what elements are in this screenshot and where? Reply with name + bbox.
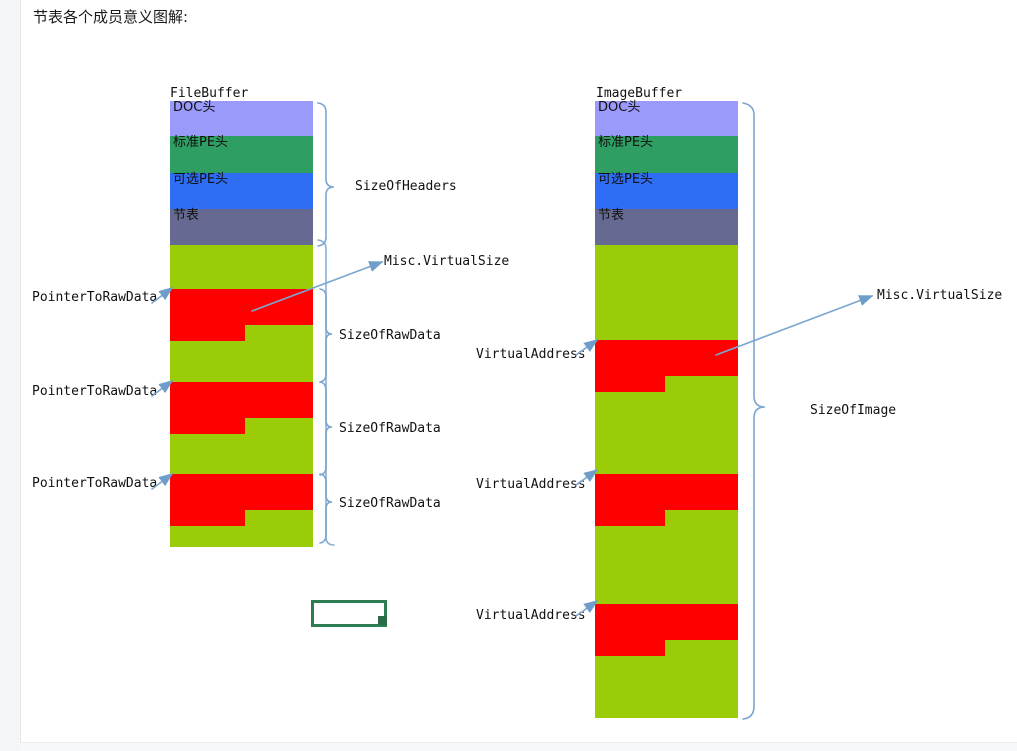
image-buffer-section-table-label: 节表 [598,209,624,223]
file-buffer-pointer-to-raw-data-1: PointerToRawData [32,290,157,305]
file-buffer-section-2-slack [170,418,245,434]
brace-size-of-raw-data-2 [320,382,332,475]
image-buffer-virtual-address-1: VirtualAddress [476,347,586,362]
empty-rectangle-shape[interactable] [311,600,387,627]
image-buffer-misc-virtual-size-label: Misc.VirtualSize [877,288,1002,303]
diagram-canvas: 节表各个成员意义图解: FileBuffer DOC头 标准PE头 可选PE头 … [0,0,1017,751]
file-buffer-size-of-raw-data-2: SizeOfRawData [339,421,441,436]
connector-overlay [0,0,1017,751]
file-buffer-standard-pe-header-label: 标准PE头 [173,136,228,150]
file-buffer-dos-header-label: DOC头 [173,101,215,115]
image-buffer-section-2-slack [595,510,665,526]
image-buffer-section-table: 节表 [595,209,738,245]
file-buffer-optional-pe-header-label: 可选PE头 [173,173,228,187]
file-buffer-section-3-raw [170,474,313,510]
brace-size-of-image [743,103,765,719]
file-buffer-title: FileBuffer [170,86,248,101]
brace-file-buffer-outer [318,240,334,545]
image-buffer-section-1-slack [595,376,665,392]
image-buffer-standard-pe-header: 标准PE头 [595,136,738,173]
file-buffer-optional-pe-header: 可选PE头 [170,173,313,209]
empty-rectangle-resize-handle[interactable] [378,616,387,625]
file-buffer-size-of-raw-data-1: SizeOfRawData [339,328,441,343]
file-buffer-section-1-slack [170,325,245,341]
file-buffer-pointer-to-raw-data-2: PointerToRawData [32,384,157,399]
file-buffer-standard-pe-header: 标准PE头 [170,136,313,173]
image-buffer-section-1-raw [595,340,738,376]
image-buffer-section-3-raw [595,604,738,640]
page-title: 节表各个成员意义图解: [33,6,188,27]
image-buffer-dos-header-label: DOC头 [598,101,640,115]
file-buffer-misc-virtual-size-label: Misc.VirtualSize [384,254,509,269]
image-buffer-title: ImageBuffer [596,86,682,101]
image-buffer-column: DOC头 标准PE头 可选PE头 节表 [595,101,738,718]
file-buffer-section-table-label: 节表 [173,209,199,223]
image-buffer-dos-header: DOC头 [595,101,738,136]
file-buffer-section-1-raw [170,289,313,325]
image-buffer-section-2-raw [595,474,738,510]
file-buffer-section-3-slack [170,510,245,526]
file-buffer-size-of-raw-data-3: SizeOfRawData [339,496,441,511]
file-buffer-column: DOC头 标准PE头 可选PE头 节表 [170,101,313,547]
file-buffer-pointer-to-raw-data-3: PointerToRawData [32,476,157,491]
image-buffer-virtual-address-2: VirtualAddress [476,477,586,492]
file-buffer-size-of-headers-label: SizeOfHeaders [355,179,457,194]
file-buffer-dos-header: DOC头 [170,101,313,136]
image-buffer-optional-pe-header-label: 可选PE头 [598,173,653,187]
brace-size-of-headers [318,103,334,246]
brace-size-of-raw-data-1 [320,289,332,382]
file-buffer-section-2-raw [170,382,313,418]
image-buffer-size-of-image-label: SizeOfImage [810,403,896,418]
image-buffer-virtual-address-3: VirtualAddress [476,608,586,623]
file-buffer-section-table: 节表 [170,209,313,245]
brace-size-of-raw-data-3 [320,474,332,543]
image-buffer-standard-pe-header-label: 标准PE头 [598,136,653,150]
arrow-image-buffer-misc-virtual-size [716,296,872,355]
image-buffer-section-3-slack [595,640,665,656]
image-buffer-optional-pe-header: 可选PE头 [595,173,738,209]
